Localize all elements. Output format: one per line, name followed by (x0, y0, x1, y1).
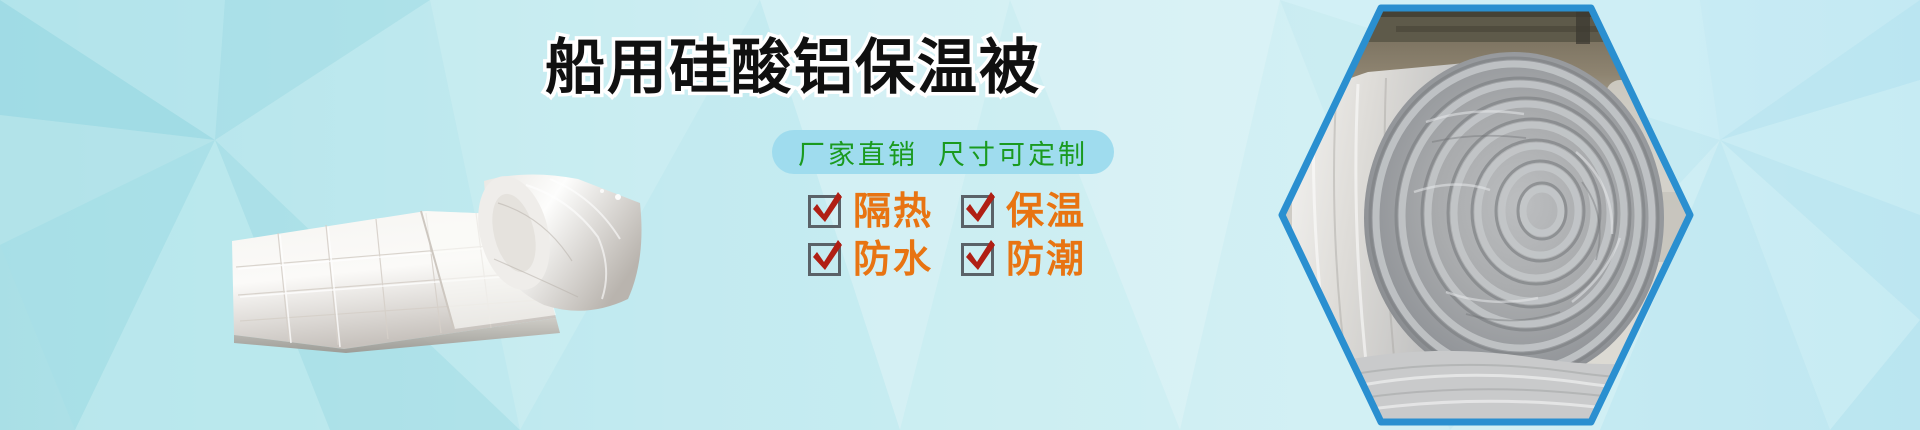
subtitle-text-2: 尺寸可定制 (938, 133, 1088, 172)
feature-item-0: 隔热 (808, 192, 933, 230)
feature-list: 隔热 保温 防水 防潮 (808, 192, 1086, 278)
feature-label-2: 防水 (853, 240, 933, 278)
feature-label-1: 保温 (1006, 192, 1086, 230)
feature-item-2: 防水 (808, 240, 933, 278)
checkbox-checked-icon (808, 243, 841, 276)
quilted-insulation-blanket-photo (226, 163, 646, 353)
rolled-insulation-blanket-photo (1276, 2, 1696, 428)
feature-item-3: 防潮 (961, 240, 1086, 278)
feature-label-3: 防潮 (1006, 240, 1086, 278)
feature-label-0: 隔热 (853, 192, 933, 230)
checkbox-checked-icon (808, 195, 841, 228)
subtitle-pill: 厂家直销 尺寸可定制 (772, 130, 1114, 174)
feature-item-1: 保温 (961, 192, 1086, 230)
checkbox-checked-icon (961, 243, 994, 276)
page-title: 船用硅酸铝保温被 (545, 36, 1041, 101)
checkbox-checked-icon (961, 195, 994, 228)
product-banner: 船用硅酸铝保温被 厂家直销 尺寸可定制 隔热 保温 (0, 0, 1920, 430)
subtitle-text-1: 厂家直销 (798, 133, 918, 172)
